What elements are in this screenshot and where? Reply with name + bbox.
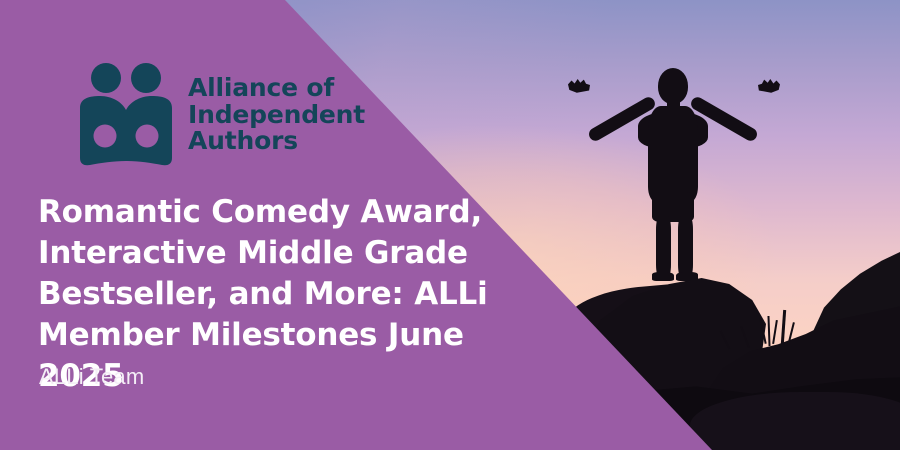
person-arms-raised-silhouette (560, 60, 790, 290)
wordmark-line-1: Alliance of (188, 75, 365, 102)
right-hand (758, 78, 780, 94)
article-byline[interactable]: ALLi Team (39, 364, 144, 390)
left-foot (652, 272, 674, 281)
alli-wordmark: Alliance of Independent Authors (188, 75, 365, 155)
headline-line-1: Romantic Comedy Award, (38, 192, 518, 233)
alli-logo[interactable]: Alliance of Independent Authors (78, 62, 365, 168)
headline-line-3: Bestseller, and More: ALLi (38, 274, 518, 315)
alliance-of-independent-authors-logo-icon (78, 62, 174, 168)
left-hand (568, 78, 590, 94)
headline-line-2: Interactive Middle Grade (38, 233, 518, 274)
banner-content: Alliance of Independent Authors Romantic… (0, 0, 540, 450)
torso (648, 106, 698, 202)
featured-article-banner: Alliance of Independent Authors Romantic… (0, 0, 900, 450)
wordmark-line-3: Authors (188, 128, 365, 155)
left-leg (656, 216, 671, 278)
wordmark-line-2: Independent (188, 102, 365, 129)
right-leg (678, 216, 693, 278)
